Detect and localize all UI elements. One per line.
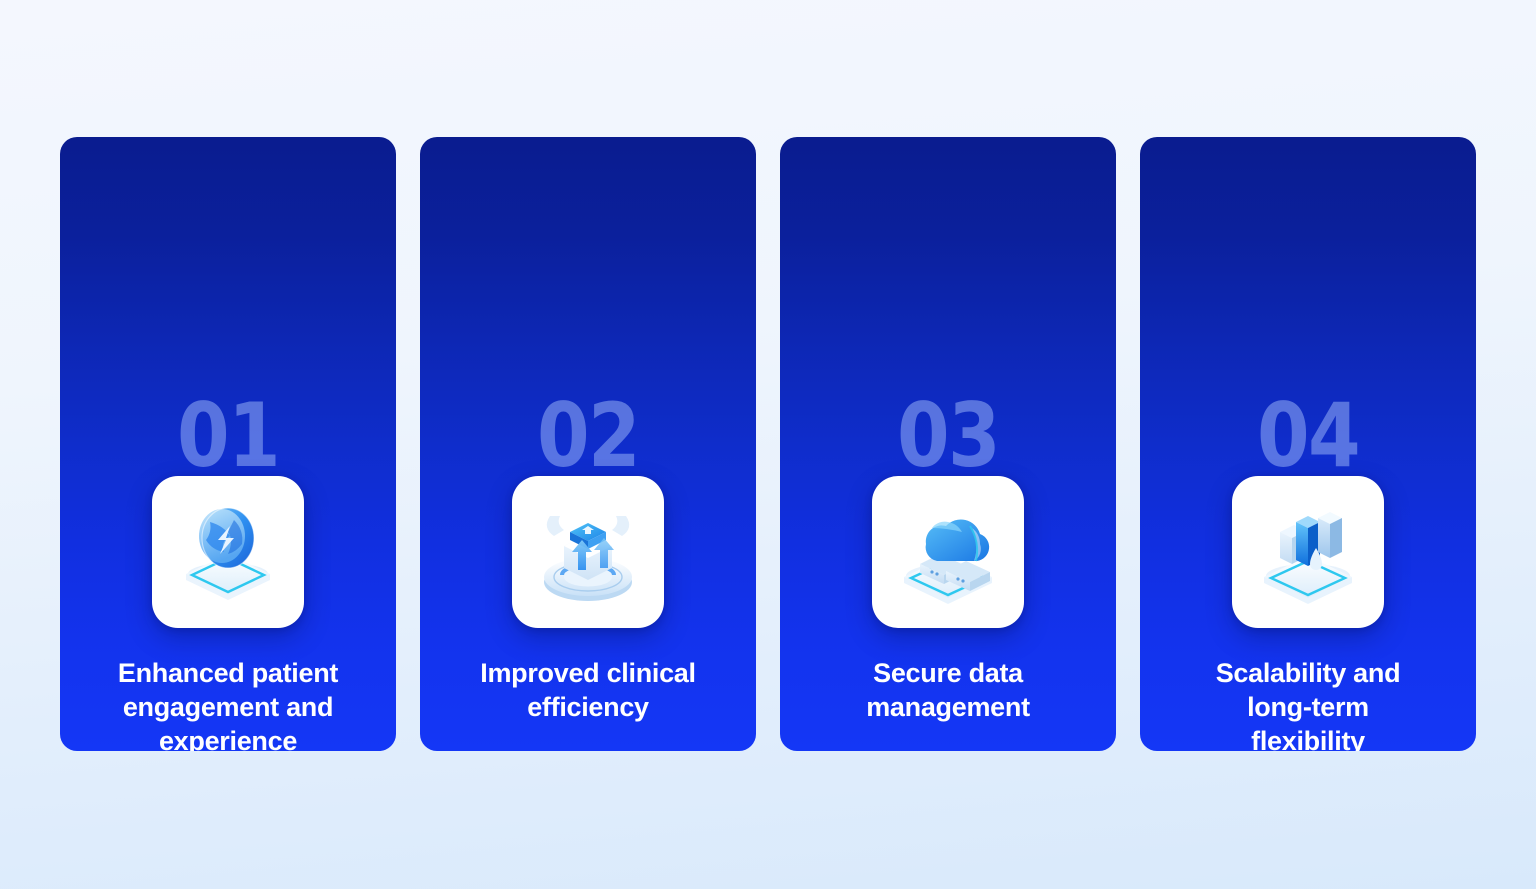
card-title-1: Enhanced patient engagement and experien…: [74, 656, 382, 751]
card-number-04: 04: [1164, 392, 1453, 480]
card-title-3: Secure data management: [794, 656, 1102, 724]
feature-card-1[interactable]: 01: [60, 137, 396, 751]
card-number-02: 02: [444, 392, 733, 480]
card-title-4: Scalability and long-term flexibility: [1154, 656, 1462, 751]
cube-arrows-platform-icon: [512, 476, 664, 628]
feature-card-3[interactable]: 03: [780, 137, 1116, 751]
globe-on-platform-icon: [152, 476, 304, 628]
card-number-03: 03: [804, 392, 1093, 480]
cloud-servers-icon: [872, 476, 1024, 628]
feature-cards-row: 01: [60, 137, 1476, 751]
feature-card-4[interactable]: 04: [1140, 137, 1476, 751]
bar-blocks-growth-icon: [1232, 476, 1384, 628]
feature-card-2[interactable]: 02: [420, 137, 756, 751]
card-title-2: Improved clinical efficiency: [434, 656, 742, 724]
card-number-01: 01: [84, 392, 373, 480]
